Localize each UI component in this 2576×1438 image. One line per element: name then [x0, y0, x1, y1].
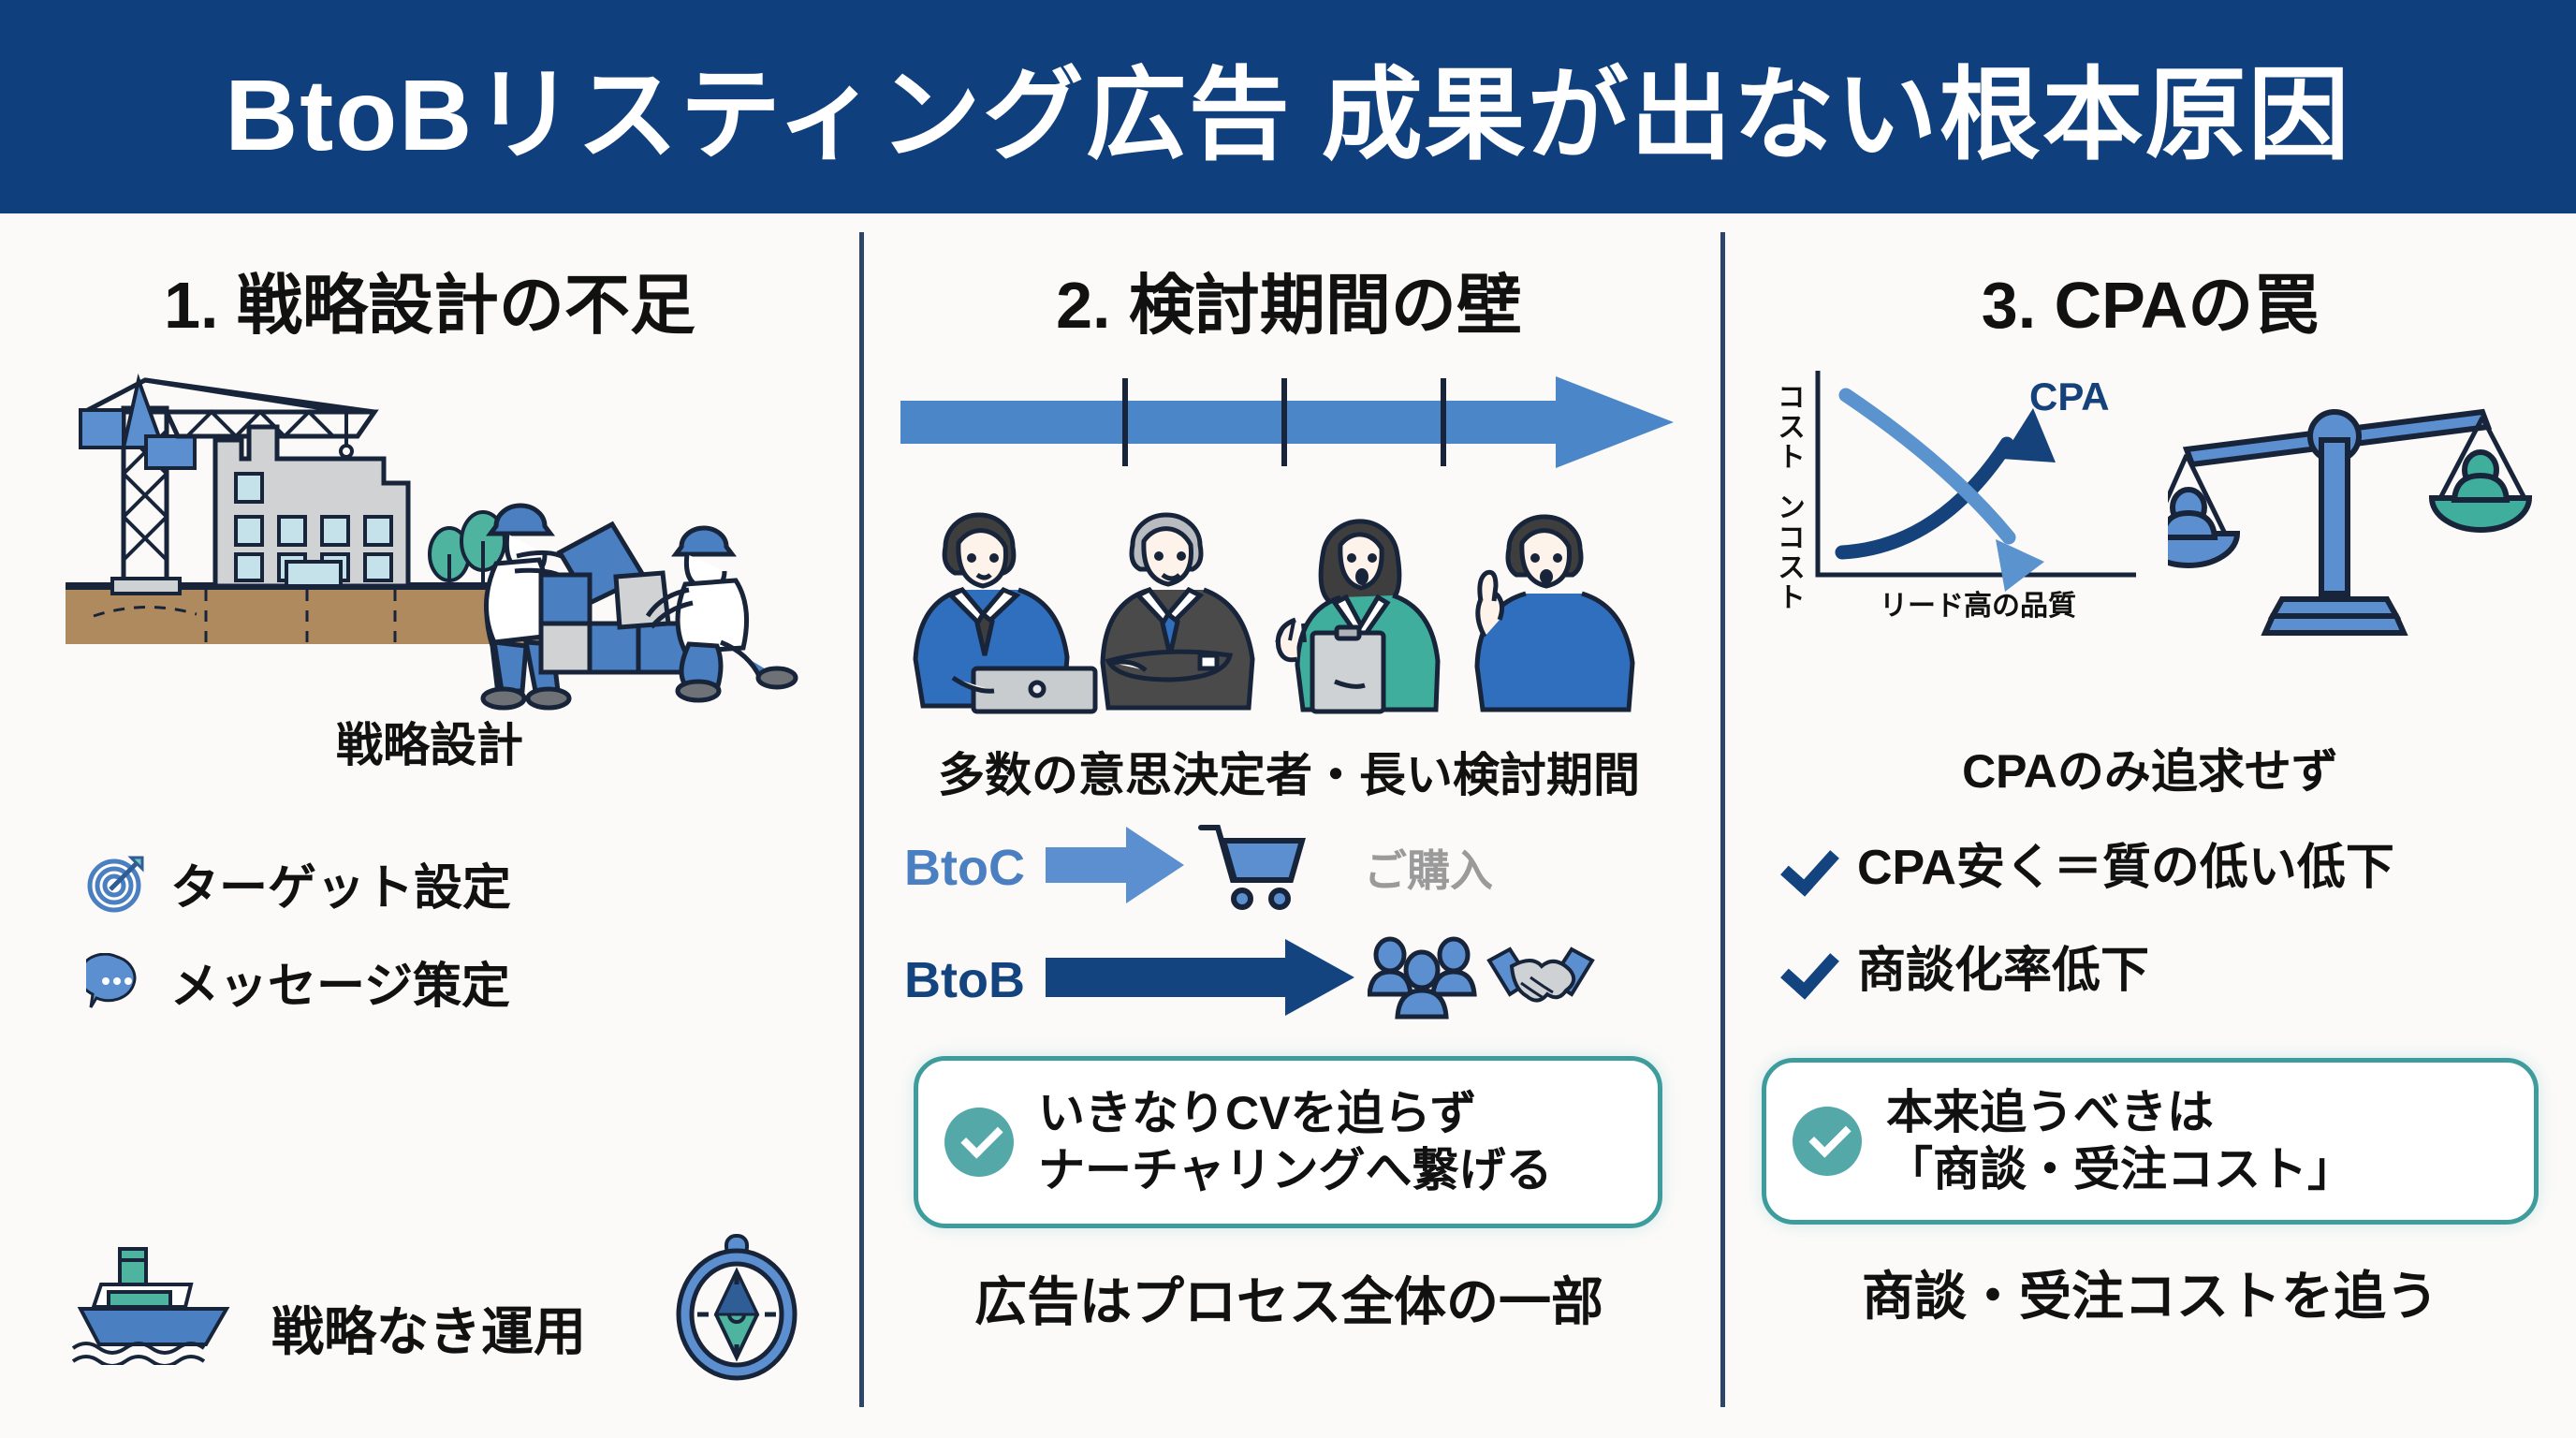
callout-line1: 本来追うべきは — [1886, 1086, 2214, 1138]
group-people-icon — [1368, 934, 1478, 1025]
target-icon — [86, 852, 148, 926]
column3-footer-label: 商談・受注コストを追う — [1720, 1255, 2576, 1330]
chart-cpa-annotation: CPA — [2029, 374, 2110, 419]
column1-footer-label: 戦略なき運用 — [271, 1290, 586, 1366]
btoc-arrow-icon — [1046, 825, 1186, 910]
callout-line2: 「商談・受注コスト」 — [1886, 1143, 2354, 1196]
flow-btob: BtoB — [904, 934, 1596, 1025]
flow-label-btob: BtoB — [904, 951, 1025, 1009]
page-title: BtoBリスティング広告 成果が出ない根本原因 — [225, 34, 2350, 180]
column-consideration: 2. 検討期間の壁 — [859, 213, 1719, 1438]
chart-x-axis-label: リード高の品質 — [1880, 582, 2076, 624]
handshake-icon — [1486, 938, 1596, 1021]
workers-stacking-blocks-illustration — [459, 485, 814, 724]
chart-y-axis-label-1: コスト — [1767, 382, 1808, 472]
column-title-1: 1. 戦略設計の不足 — [0, 253, 859, 347]
btob-arrow-icon — [1046, 937, 1354, 1022]
page-header: BtoBリスティング広告 成果が出ない根本原因 — [0, 0, 2576, 213]
flow-btoc: BtoC ご購入 — [904, 820, 1493, 915]
circle-check-icon — [1793, 1107, 1862, 1176]
column-cpa: 3. CPAの罠 コスト ンコスト リード高の品質 CPA — [1720, 213, 2576, 1438]
column-title-2: 2. 検討期間の壁 — [859, 253, 1719, 347]
column-title-3: 3. CPAの罠 — [1720, 253, 2576, 347]
speech-bubble-icon — [86, 953, 148, 1021]
chart-y-axis-label-2: ンコスト — [1767, 492, 1808, 612]
bullet-label: CPA安く＝質の低い低下 — [1857, 842, 2394, 895]
callout-text: いきなりCVを迫らず ナーチャリングへ繋げる — [1038, 1085, 1553, 1199]
timeline-arrow-icon — [900, 371, 1677, 478]
check-icon — [1778, 841, 1835, 897]
column1-caption: 戦略設計 — [0, 708, 859, 775]
bullet-label: ターゲット設定 — [170, 862, 511, 916]
flow-label-btoc: BtoC — [904, 839, 1025, 897]
bullet-meeting-rate-down: 商談化率低下 — [1778, 944, 2149, 1000]
bullet-cpa-cheap: CPA安く＝質の低い低下 — [1778, 841, 2394, 897]
shopping-cart-icon — [1197, 820, 1310, 915]
balance-scale-icon — [2168, 384, 2542, 651]
column3-caption: CPAのみ追求せず — [1720, 734, 2576, 801]
compass-icon — [666, 1232, 807, 1387]
bullet-message-planning: メッセージ策定 — [86, 953, 510, 1021]
column-strategy: 1. 戦略設計の不足 — [0, 213, 859, 1438]
callout-line1: いきなりCVを迫らず — [1038, 1087, 1476, 1139]
column2-caption: 多数の意思決定者・長い検討期間 — [859, 738, 1719, 805]
column2-footer-label: 広告はプロセス全体の一部 — [859, 1260, 1719, 1336]
bullet-label: 商談化率低下 — [1857, 945, 2149, 998]
callout-line2: ナーチャリングへ繋げる — [1038, 1144, 1553, 1196]
ship-icon — [66, 1243, 243, 1370]
infographic-board: 1. 戦略設計の不足 — [0, 213, 2576, 1438]
check-icon — [1778, 944, 1835, 1000]
callout-nurturing: いきなりCVを迫らず ナーチャリングへ繋げる — [914, 1056, 1662, 1228]
bullet-target-setting: ターゲット設定 — [86, 852, 511, 926]
callout-true-metric: 本来追うべきは 「商談・受注コスト」 — [1762, 1058, 2539, 1225]
bullet-label: メッセージ策定 — [170, 961, 510, 1014]
callout-text: 本来追うべきは 「商談・受注コスト」 — [1886, 1084, 2354, 1198]
circle-check-icon — [944, 1108, 1014, 1177]
btoc-note: ご購入 — [1364, 837, 1493, 899]
decision-makers-illustration — [904, 504, 1672, 724]
